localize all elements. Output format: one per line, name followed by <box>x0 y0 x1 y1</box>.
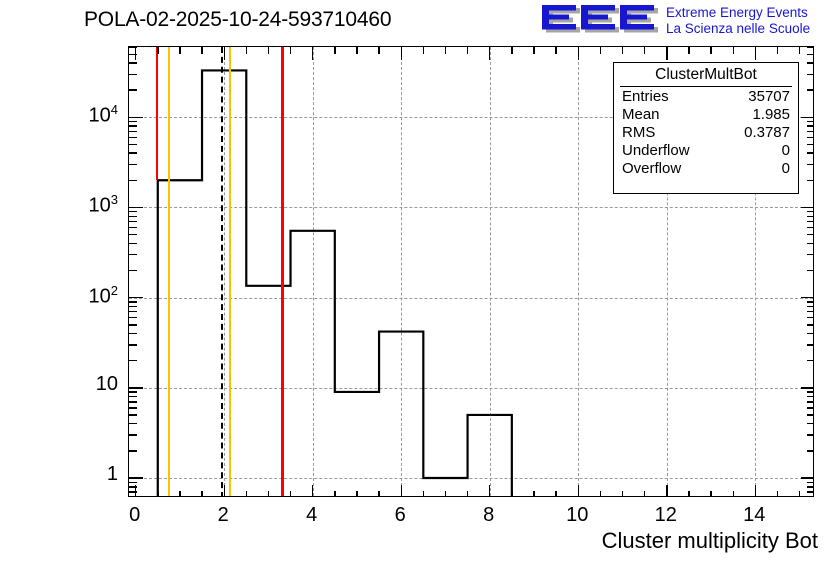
y-tick <box>807 391 813 392</box>
y-tick <box>807 125 813 126</box>
statistics-key: Underflow <box>622 142 690 159</box>
y-tick <box>129 221 137 222</box>
x-tick <box>799 491 800 496</box>
eee-logo-line2: La Scienza nelle Scuole <box>666 21 810 37</box>
y-tick <box>129 486 137 487</box>
y-tick <box>807 317 813 318</box>
statistics-row: Mean1.985 <box>614 105 798 123</box>
y-tick <box>129 62 137 63</box>
x-tick <box>201 47 202 54</box>
x-tick <box>334 491 335 496</box>
y-tick <box>129 74 137 75</box>
y-tick <box>129 401 137 402</box>
y-tick <box>129 47 137 48</box>
y-tick <box>129 227 137 228</box>
y-tick <box>129 482 137 483</box>
y-tick <box>129 216 137 217</box>
x-tick <box>644 47 645 54</box>
page-title: POLA-02-2025-10-24-593710460 <box>84 8 391 32</box>
y-tick <box>129 396 137 397</box>
y-tick <box>807 54 813 55</box>
x-axis-ticklabel: 12 <box>646 504 686 527</box>
y-tick <box>801 207 813 208</box>
x-tick <box>224 485 225 496</box>
y-tick <box>807 164 813 165</box>
y-tick <box>801 117 813 118</box>
x-tick <box>157 491 158 496</box>
y-tick <box>129 144 137 145</box>
y-tick <box>129 254 137 255</box>
y-tick <box>129 207 143 208</box>
x-tick <box>246 491 247 496</box>
statistics-row: Underflow0 <box>614 141 798 159</box>
y-tick <box>801 387 813 388</box>
x-axis-ticklabel: 6 <box>380 504 420 527</box>
x-tick <box>246 47 247 54</box>
y-tick <box>807 152 813 153</box>
y-tick <box>807 137 813 138</box>
y-tick <box>129 423 137 424</box>
y-tick <box>129 333 137 334</box>
statistics-value: 35707 <box>748 88 790 105</box>
y-tick <box>807 62 813 63</box>
y-axis-ticklabel: 102 <box>48 283 118 309</box>
y-tick <box>807 450 813 451</box>
y-tick <box>129 317 137 318</box>
x-tick <box>356 47 357 54</box>
x-tick <box>312 485 313 496</box>
statistics-row: Overflow0 <box>614 159 798 177</box>
y-axis-ticklabel: 1 <box>48 463 118 486</box>
x-tick <box>777 47 778 54</box>
y-tick <box>807 121 813 122</box>
y-tick <box>807 482 813 483</box>
y-tick <box>129 180 137 181</box>
y-axis-ticklabel: 10 <box>48 373 118 396</box>
x-tick <box>666 485 667 496</box>
statistics-key: Entries <box>622 88 669 105</box>
x-tick <box>600 491 601 496</box>
x-tick <box>555 491 556 496</box>
statistics-key: Overflow <box>622 160 681 177</box>
y-tick <box>129 306 137 307</box>
x-tick <box>688 491 689 496</box>
x-axis-ticklabel: 14 <box>734 504 774 527</box>
y-tick <box>807 216 813 217</box>
x-tick <box>600 47 601 54</box>
x-tick <box>445 47 446 54</box>
x-tick <box>710 47 711 54</box>
eee-logo-mark-icon <box>540 4 660 36</box>
x-tick <box>378 491 379 496</box>
x-tick <box>312 47 313 60</box>
statistics-rows: Entries35707Mean1.985RMS0.3787Underflow0… <box>614 87 798 177</box>
x-tick <box>511 491 512 496</box>
y-tick <box>807 396 813 397</box>
y-tick <box>129 311 137 312</box>
y-tick <box>129 117 143 118</box>
y-tick <box>129 121 137 122</box>
y-tick <box>129 344 137 345</box>
x-tick <box>268 491 269 496</box>
x-tick <box>555 47 556 54</box>
y-tick <box>807 491 813 492</box>
y-tick <box>807 234 813 235</box>
x-tick <box>445 491 446 496</box>
x-tick <box>290 491 291 496</box>
statistics-box-title: ClusterMultBot <box>620 63 792 87</box>
y-tick <box>807 434 813 435</box>
y-tick <box>807 144 813 145</box>
x-tick <box>268 47 269 54</box>
x-tick <box>688 47 689 54</box>
statistics-key: Mean <box>622 106 660 123</box>
y-tick <box>807 301 813 302</box>
statistics-value: 0.3787 <box>744 124 790 141</box>
x-tick <box>201 491 202 496</box>
x-tick <box>489 47 490 60</box>
x-tick <box>755 485 756 496</box>
y-tick <box>807 131 813 132</box>
x-tick <box>533 47 534 54</box>
y-tick <box>807 423 813 424</box>
y-tick <box>807 243 813 244</box>
y-tick <box>129 391 137 392</box>
x-tick <box>157 47 158 54</box>
x-tick <box>733 47 734 54</box>
x-tick <box>755 47 756 60</box>
y-axis-ticklabel: 103 <box>48 192 118 218</box>
y-tick <box>801 477 813 478</box>
y-tick <box>129 434 137 435</box>
x-tick <box>224 47 225 60</box>
eee-logo: Extreme Energy Events La Scienza nelle S… <box>540 4 832 38</box>
statistics-box: ClusterMultBot Entries35707Mean1.985RMS0… <box>613 62 799 194</box>
x-tick <box>578 485 579 496</box>
y-tick <box>807 306 813 307</box>
x-tick <box>511 47 512 54</box>
y-axis-ticklabel: 104 <box>48 102 118 128</box>
y-tick <box>807 74 813 75</box>
y-tick <box>129 324 137 325</box>
y-tick <box>807 407 813 408</box>
x-axis-ticklabel: 0 <box>115 504 155 527</box>
x-tick <box>290 47 291 54</box>
x-tick <box>777 491 778 496</box>
y-tick <box>807 333 813 334</box>
x-tick <box>733 491 734 496</box>
y-tick <box>807 254 813 255</box>
x-tick <box>799 47 800 54</box>
y-tick <box>129 360 137 361</box>
y-tick <box>807 227 813 228</box>
statistics-row: Entries35707 <box>614 87 798 105</box>
x-tick <box>378 47 379 54</box>
x-tick <box>423 491 424 496</box>
x-axis-title: Cluster multiplicity Bot <box>602 528 818 554</box>
x-tick <box>334 47 335 54</box>
y-tick <box>129 243 137 244</box>
y-tick <box>807 270 813 271</box>
y-tick <box>807 414 813 415</box>
x-tick <box>533 491 534 496</box>
y-tick <box>129 211 137 212</box>
x-tick <box>644 491 645 496</box>
y-tick <box>129 270 137 271</box>
x-tick <box>622 47 623 54</box>
y-tick <box>129 89 137 90</box>
x-tick <box>423 47 424 54</box>
y-tick <box>129 414 137 415</box>
y-tick <box>129 407 137 408</box>
y-tick <box>807 360 813 361</box>
x-tick <box>179 47 180 54</box>
y-tick <box>807 401 813 402</box>
y-tick <box>129 164 137 165</box>
y-tick <box>129 297 143 298</box>
root-canvas: POLA-02-2025-10-24-593710460 Extreme Ene… <box>0 0 836 572</box>
y-tick <box>129 54 137 55</box>
y-tick <box>129 131 137 132</box>
x-tick <box>401 47 402 60</box>
y-tick <box>807 344 813 345</box>
y-tick <box>129 301 137 302</box>
y-tick <box>129 234 137 235</box>
x-axis-ticklabel: 10 <box>557 504 597 527</box>
eee-logo-text: Extreme Energy Events La Scienza nelle S… <box>666 5 810 36</box>
x-tick <box>666 47 667 60</box>
x-axis-ticklabel: 2 <box>203 504 243 527</box>
x-tick <box>356 491 357 496</box>
x-tick <box>622 491 623 496</box>
statistics-value: 0 <box>782 142 790 159</box>
y-tick <box>807 221 813 222</box>
statistics-row: RMS0.3787 <box>614 123 798 141</box>
eee-logo-line1: Extreme Energy Events <box>666 5 810 21</box>
statistics-value: 0 <box>782 160 790 177</box>
y-tick <box>807 311 813 312</box>
y-tick <box>129 491 137 492</box>
y-tick <box>129 450 137 451</box>
x-tick <box>179 491 180 496</box>
y-tick <box>807 47 813 48</box>
statistics-value: 1.985 <box>752 106 790 123</box>
statistics-key: RMS <box>622 124 655 141</box>
x-axis-ticklabel: 4 <box>292 504 332 527</box>
y-tick <box>129 477 143 478</box>
y-tick <box>807 211 813 212</box>
y-tick <box>129 137 137 138</box>
y-tick <box>801 297 813 298</box>
x-tick <box>467 47 468 54</box>
y-tick <box>129 125 137 126</box>
y-tick <box>807 89 813 90</box>
x-tick <box>401 485 402 496</box>
y-tick <box>129 387 143 388</box>
y-tick <box>807 486 813 487</box>
x-tick <box>467 491 468 496</box>
y-tick <box>807 324 813 325</box>
x-tick <box>489 485 490 496</box>
x-axis-ticklabel: 8 <box>469 504 509 527</box>
y-tick <box>129 152 137 153</box>
x-tick <box>710 491 711 496</box>
x-tick <box>578 47 579 60</box>
y-tick <box>807 180 813 181</box>
